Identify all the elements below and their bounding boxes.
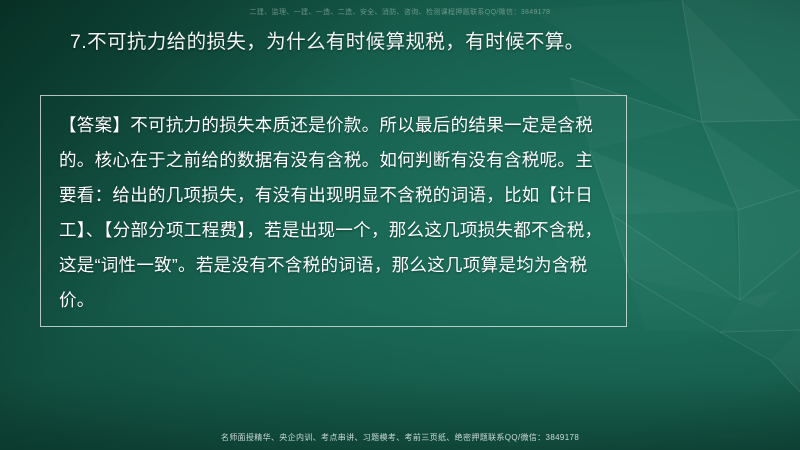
bottom-promo-banner: 名师面授精华、央企内训、考点串讲、习题模考、考前三页纸、绝密押题联系QQ/微信：… (0, 432, 800, 443)
slide-canvas: 二建、监理、一建、一造、二造、安全、消防、咨询、检测课程押题联系QQ/微信：38… (0, 0, 800, 450)
answer-text: 【答案】不可抗力的损失本质还是价款。所以最后的结果一定是含税的。核心在于之前给的… (59, 108, 610, 318)
top-promo-banner: 二建、监理、一建、一造、二造、安全、消防、咨询、检测课程押题联系QQ/微信：38… (0, 7, 800, 17)
answer-box: 【答案】不可抗力的损失本质还是价款。所以最后的结果一定是含税的。核心在于之前给的… (40, 95, 627, 327)
question-title: 7.不可抗力给的损失，为什么有时候算规税，有时候不算。 (28, 27, 628, 57)
